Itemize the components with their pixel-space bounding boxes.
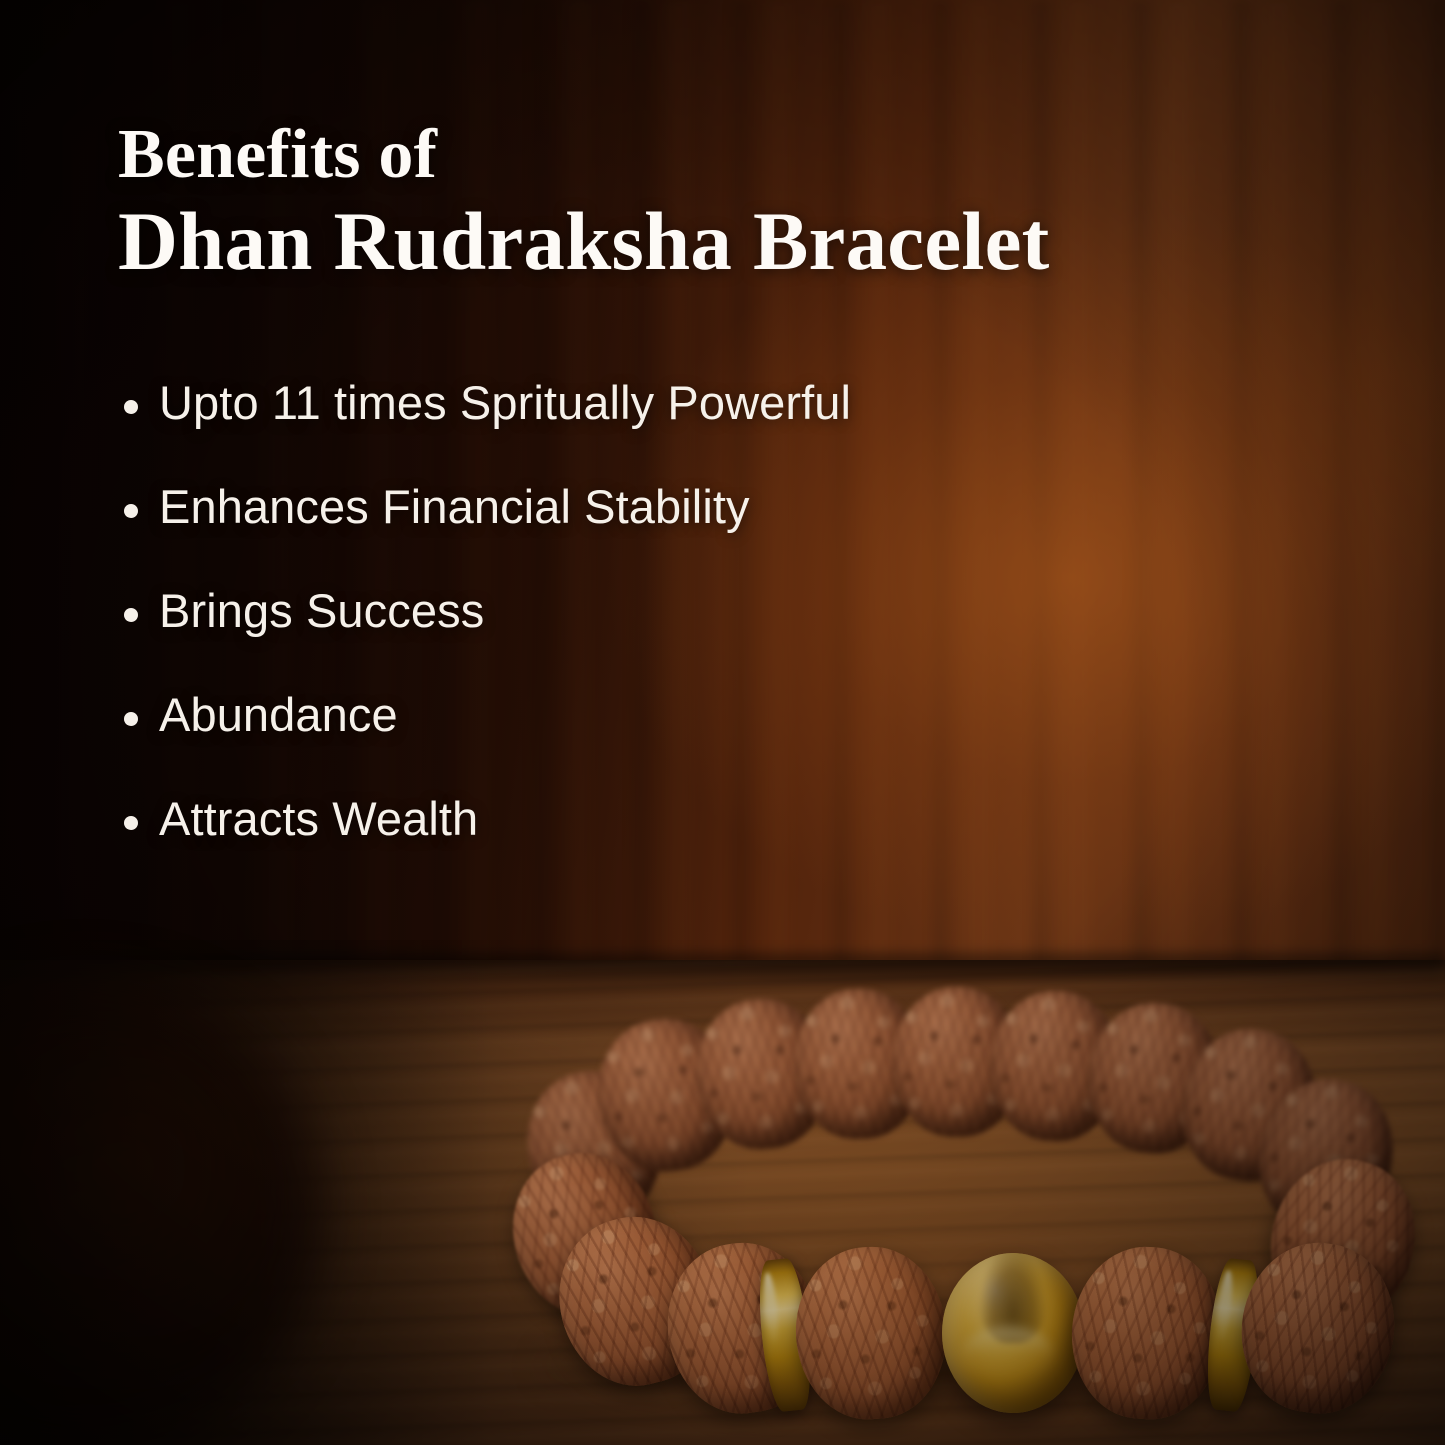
benefit-item: Attracts Wealth [118,795,1338,899]
title-line-2: Dhan Rudraksha Bracelet [118,195,1338,287]
bullet-icon [124,400,138,414]
bullet-icon [124,504,138,518]
benefit-item: Brings Success [118,587,1338,691]
bullet-icon [124,816,138,830]
text-content: Benefits of Dhan Rudraksha Bracelet Upto… [118,96,1338,899]
bullet-icon [124,608,138,622]
rudraksha-bracelet [500,975,1420,1405]
benefit-label: Upto 11 times Spritually Powerful [159,379,851,426]
rudraksha-bead [1066,1242,1228,1424]
benefit-label: Enhances Financial Stability [159,483,750,530]
benefit-item: Enhances Financial Stability [118,483,1338,587]
rudraksha-bead [790,1242,952,1424]
bullet-icon [124,712,138,726]
benefit-label: Abundance [159,691,398,738]
benefit-label: Brings Success [159,587,484,634]
gold-center-bead [942,1253,1084,1413]
rudraksha-bead [1230,1232,1407,1424]
page-title: Benefits of Dhan Rudraksha Bracelet [118,117,1338,287]
benefit-label: Attracts Wealth [159,795,478,842]
title-line-1: Benefits of [118,117,1338,193]
benefit-item: Upto 11 times Spritually Powerful [118,379,1338,483]
benefits-list: Upto 11 times Spritually Powerful Enhanc… [118,379,1338,899]
benefit-item: Abundance [118,691,1338,795]
promo-banner: Benefits of Dhan Rudraksha Bracelet Upto… [0,0,1445,1445]
